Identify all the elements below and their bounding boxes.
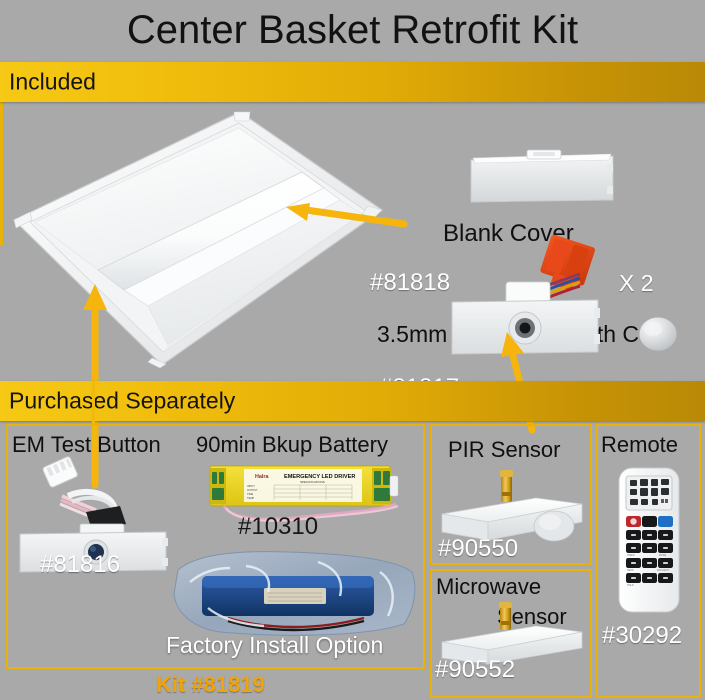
kit-number-label: Kit #81819 [156,672,265,698]
pir-sensor-part-number: #90550 [438,535,518,563]
pir-sensor-heading: PIR Sensor [448,437,561,463]
em-test-button-heading: EM Test Button [12,432,161,458]
microwave-sensor-part-number: #90552 [435,656,515,684]
center-basket-troffer-illustration [2,110,392,380]
remote-control-illustration: TIMERMODE SENSDAYLIGHT HOLD [613,466,685,614]
blank-cover-part-number: #81818 [370,269,450,297]
page-title: Center Basket Retrofit Kit [0,3,705,57]
svg-text:TIMER: TIMER [627,554,635,557]
svg-text:TIME: TIME [247,492,253,496]
svg-text:Halra: Halra [255,474,269,480]
purchased-separately-banner-label: Purchased Separately [9,388,235,415]
svg-text:MODE: MODE [659,554,667,557]
included-section: Blank Cover #81818 X 2 3.5mm Receptacle … [0,102,705,381]
arrow-to-receptacle-label [276,202,406,232]
included-banner: Included [0,62,705,102]
product-diagram: Center Basket Retrofit Kit Included [0,0,705,700]
svg-text:INPUT: INPUT [247,484,255,488]
battery-pack-in-bag-illustration [168,548,420,640]
emergency-led-driver-illustration: Halra EMERGENCY LED DRIVER SPECIFICATION… [200,460,415,520]
microwave-sensor-heading-line1: Microwave [436,574,541,600]
factory-install-option-label: Factory Install Option [166,632,383,659]
remote-part-number: #30292 [602,622,682,650]
backup-battery-heading: 90min Bkup Battery [196,432,388,458]
backup-battery-part-number: #10310 [238,513,318,541]
svg-text:SPECIFICATIONS: SPECIFICATIONS [300,480,325,484]
included-banner-label: Included [9,69,96,96]
svg-text:TEMP: TEMP [247,496,254,500]
title-bar: Center Basket Retrofit Kit [0,0,705,62]
remote-heading: Remote [601,432,678,458]
svg-text:DAYLIGHT: DAYLIGHT [657,569,669,572]
blank-cover-illustration [467,146,617,208]
purchased-separately-banner: Purchased Separately [0,381,705,421]
svg-text:HOLD: HOLD [627,584,634,587]
svg-text:OUTPUT: OUTPUT [247,488,258,492]
receptacle-with-cap-illustration [446,238,705,380]
em-test-button-part-number: #81816 [40,551,120,579]
svg-text:SENS: SENS [627,569,634,572]
